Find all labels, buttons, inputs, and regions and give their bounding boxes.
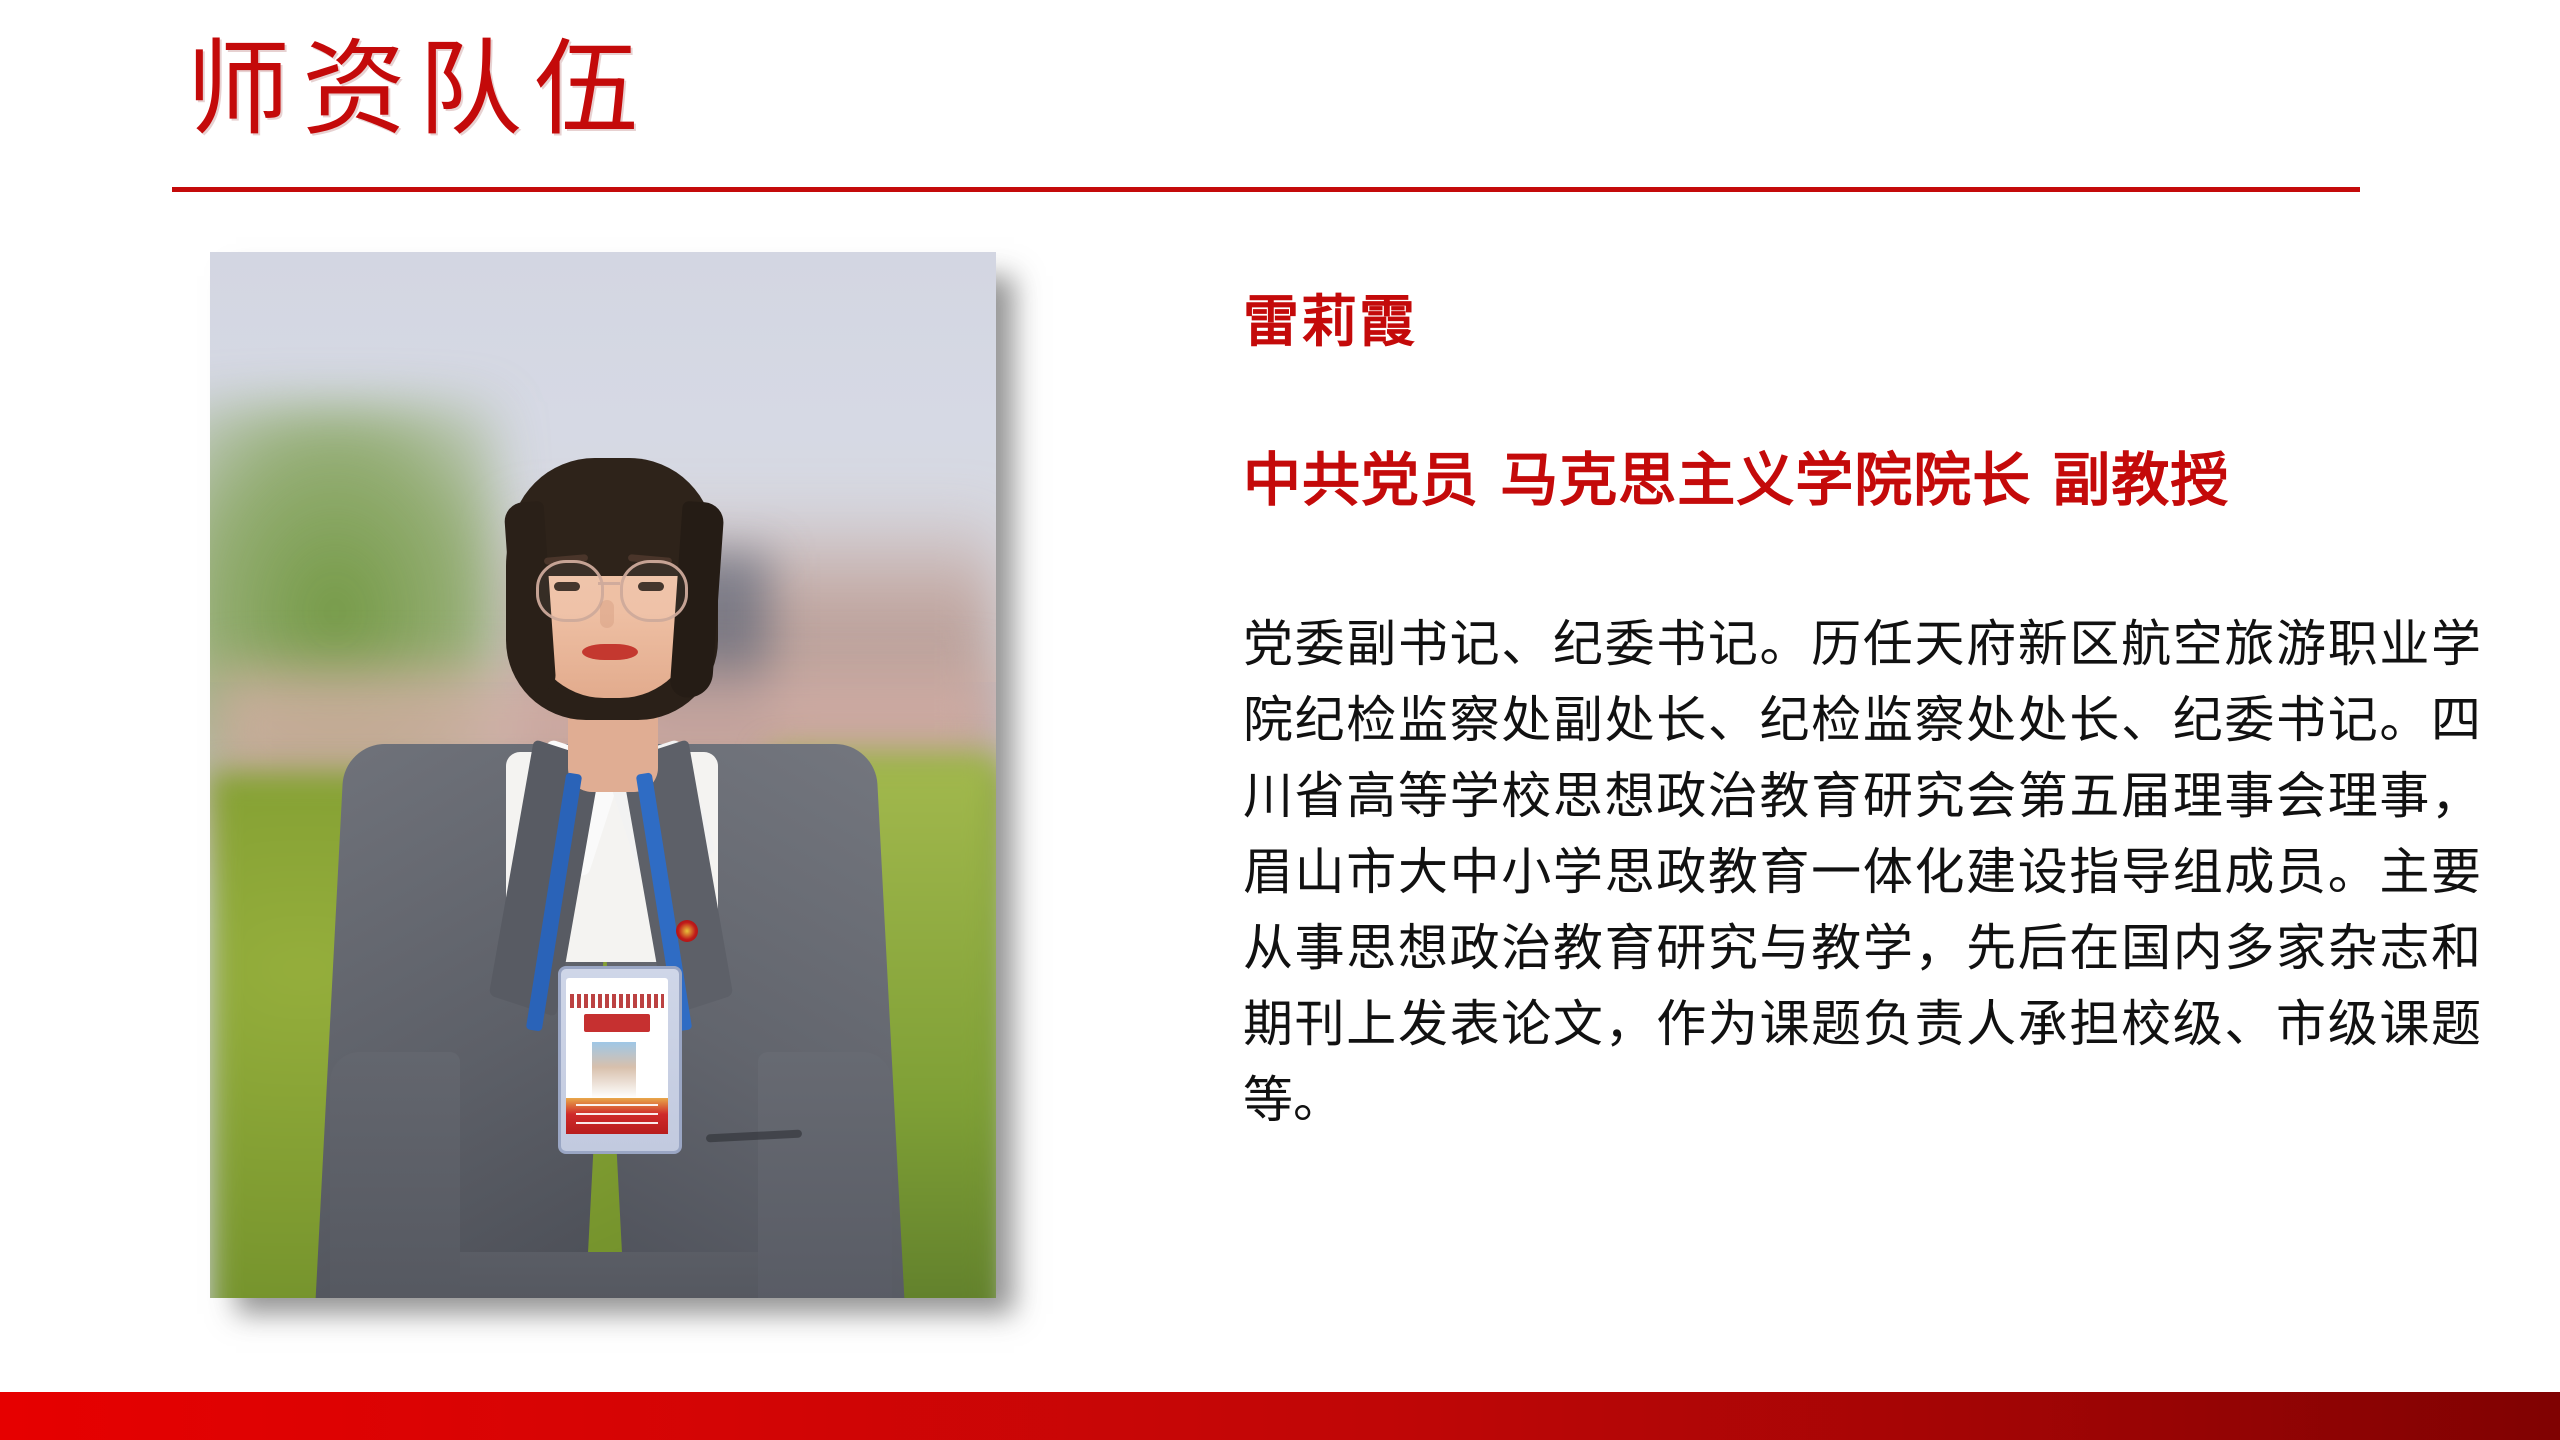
glasses-lens-left-icon: [536, 560, 604, 622]
photo-mouth: [582, 644, 638, 660]
title-divider-rule: [172, 187, 2360, 192]
page-title: 师资队伍: [186, 28, 650, 151]
glasses-bridge-icon: [598, 582, 620, 585]
glasses-lens-right-icon: [620, 560, 688, 622]
person-role: 中共党员 马克思主义学院院长 副教授: [1243, 433, 2229, 517]
photo-arm-left: [330, 1052, 460, 1298]
person-biography: 党委副书记、纪委书记。历任天府新区航空旅游职业学院纪检监察处副处长、纪检监察处处…: [1243, 606, 2481, 1138]
id-badge-org-line: [570, 994, 664, 1008]
slide-canvas: 师资队伍: [0, 0, 2560, 1440]
id-badge-field-lines: [576, 1104, 658, 1130]
photo-arm-right: [758, 1052, 892, 1298]
footer-accent-bar: [0, 1392, 2560, 1440]
person-name: 雷莉霞: [1243, 277, 1417, 358]
id-badge-photo: [592, 1042, 636, 1098]
photo-nose: [600, 600, 614, 628]
lapel-pin-icon: [676, 920, 698, 942]
portrait-photo: [210, 252, 996, 1298]
id-badge-title-block: [584, 1014, 650, 1032]
